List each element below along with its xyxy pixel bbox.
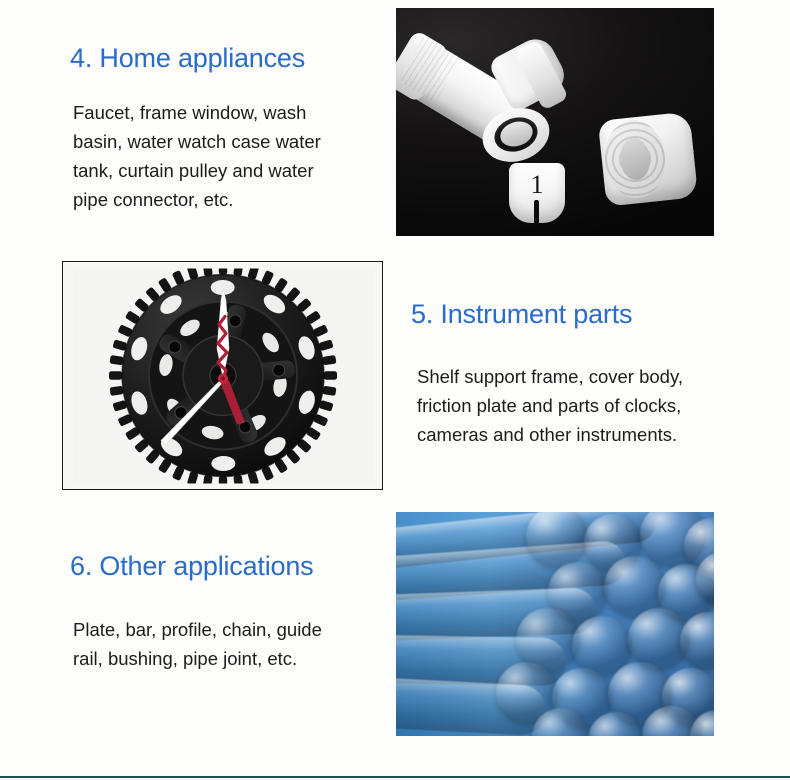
bicycle-crankset-clock-photo — [62, 261, 383, 490]
body-line: Plate, bar, profile, chain, guide — [73, 615, 373, 644]
blue-plastic-rods-photo — [396, 512, 714, 736]
white-plastic-pipe-fittings-photo: 1 — [396, 8, 714, 236]
clip-ring-number-label: 1 — [509, 170, 565, 200]
section-body-instrument-parts: Shelf support frame, cover body, frictio… — [417, 362, 727, 449]
body-line: Faucet, frame window, wash — [73, 98, 373, 127]
section-body-other-applications: Plate, bar, profile, chain, guide rail, … — [73, 615, 373, 673]
application-page: 4. Home appliances Faucet, frame window,… — [0, 0, 790, 780]
footer-divider — [0, 776, 790, 778]
section-body-home-appliances: Faucet, frame window, wash basin, water … — [73, 98, 373, 214]
body-line: pipe connector, etc. — [73, 185, 373, 214]
photo-background — [396, 512, 714, 736]
section-heading-home-appliances: 4. Home appliances — [70, 43, 305, 74]
clock-center-pin — [221, 376, 225, 380]
crankset-clock-illustration — [73, 268, 373, 483]
body-line: friction plate and parts of clocks, — [417, 391, 727, 420]
body-line: cameras and other instruments. — [417, 420, 727, 449]
section-heading-other-applications: 6. Other applications — [70, 551, 313, 582]
body-line: basin, water watch case water — [73, 127, 373, 156]
body-line: rail, bushing, pipe joint, etc. — [73, 644, 373, 673]
body-line: Shelf support frame, cover body, — [417, 362, 727, 391]
clip-ring-notch — [534, 200, 539, 224]
body-line: tank, curtain pulley and water — [73, 156, 373, 185]
section-heading-instrument-parts: 5. Instrument parts — [411, 299, 632, 330]
